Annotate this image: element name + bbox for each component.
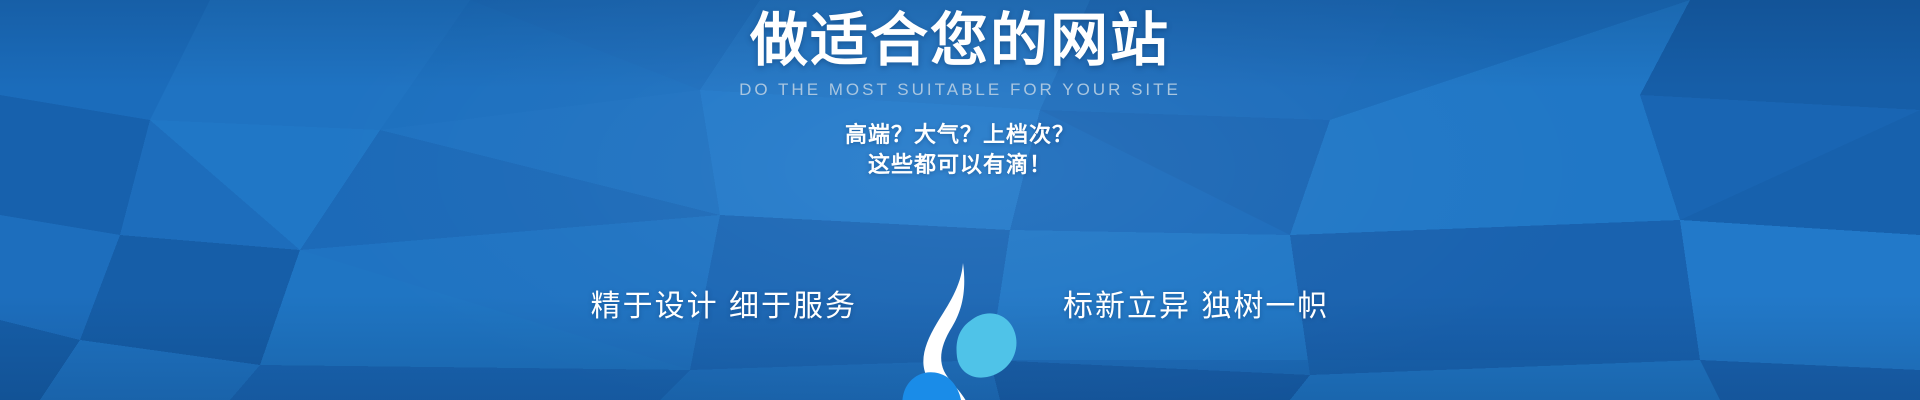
leaf-sprout-logo-icon <box>901 261 1019 400</box>
slogan-row: 精于设计 细于服务 标新立异 独树一帜 <box>0 203 1920 400</box>
slogan-right: 标新立异 独树一帜 <box>1019 281 1349 325</box>
banner-content: 做适合您的网站 DO THE MOST SUITABLE FOR YOUR SI… <box>0 0 1920 400</box>
question-line-2: 这些都可以有滴！ <box>868 150 1052 180</box>
logo-leaf-upper <box>957 313 1017 377</box>
subtitle-english: DO THE MOST SUITABLE FOR YOUR SITE <box>739 80 1181 100</box>
headline: 做适合您的网站 <box>750 12 1170 70</box>
logo-leaf-lower <box>902 372 962 400</box>
question-line-1: 高端？大气？上档次？ <box>845 120 1075 150</box>
slogan-left: 精于设计 细于服务 <box>571 281 901 325</box>
promo-banner: 做适合您的网站 DO THE MOST SUITABLE FOR YOUR SI… <box>0 0 1920 400</box>
